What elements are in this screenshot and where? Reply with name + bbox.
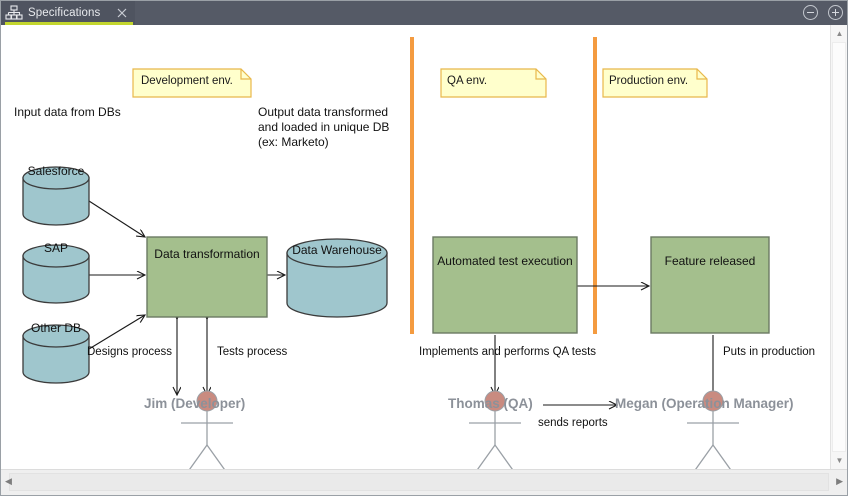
- zoom-controls: [803, 5, 843, 20]
- zoom-in-button[interactable]: [828, 5, 843, 20]
- annotation-line: (ex: Marketo): [258, 135, 389, 150]
- annotation-line: Input data from DBs: [14, 105, 121, 120]
- scroll-up-icon[interactable]: ▲: [831, 25, 848, 42]
- edge-salesforce-to-transform: [89, 201, 145, 237]
- zoom-out-button[interactable]: [803, 5, 818, 20]
- process-label-data-transformation: Data transformation: [141, 247, 273, 261]
- scroll-right-icon[interactable]: ▶: [836, 476, 843, 487]
- process-label-automated-test-execution: Automated test execution: [429, 254, 581, 268]
- vertical-scrollbar-thumb[interactable]: [832, 42, 846, 452]
- edge-label-puts-in-production: Puts in production: [723, 346, 815, 358]
- titlebar: Specifications: [1, 1, 848, 25]
- annotation-input-data: Input data from DBs: [14, 105, 121, 120]
- horizontal-scrollbar[interactable]: ◀ ▶: [1, 469, 848, 495]
- edge-label-implements-qa-tests: Implements and performs QA tests: [419, 346, 596, 358]
- annotation-line: Output data transformed: [258, 105, 389, 120]
- edge-otherdb-to-transform: [89, 315, 145, 349]
- tab-label: Specifications: [28, 7, 100, 19]
- database-label-salesforce: Salesforce: [23, 164, 89, 178]
- process-automated-test-execution[interactable]: [433, 237, 577, 333]
- scroll-left-icon[interactable]: ◀: [5, 476, 12, 487]
- annotation-line: and loaded in unique DB: [258, 120, 389, 135]
- scroll-down-icon[interactable]: ▼: [831, 452, 848, 469]
- actor-label-thomas: Thomas (QA): [448, 396, 533, 411]
- note-label-development-env: Development env.: [141, 75, 233, 87]
- actor-label-megan: Megan (Operation Manager): [615, 396, 794, 411]
- note-label-qa-env: QA env.: [447, 75, 487, 87]
- horizontal-scrollbar-thumb[interactable]: [9, 473, 829, 491]
- tab-specifications[interactable]: Specifications: [1, 1, 135, 25]
- edge-label-sends-reports: sends reports: [538, 417, 608, 429]
- note-label-production-env: Production env.: [609, 75, 688, 87]
- database-label-sap: SAP: [23, 241, 89, 255]
- database-label-other-db: Other DB: [23, 321, 89, 335]
- edge-label-designs-process: Designs process: [87, 346, 172, 358]
- hierarchy-icon: [5, 4, 23, 22]
- close-icon[interactable]: [116, 7, 128, 19]
- database-label-data-warehouse: Data Warehouse: [287, 243, 387, 257]
- diagram-canvas[interactable]: Development env. QA env. Production env.…: [1, 25, 832, 469]
- diagram-editor-window: Specifications: [0, 0, 848, 496]
- process-feature-released[interactable]: [651, 237, 769, 333]
- annotation-output-data: Output data transformed and loaded in un…: [258, 105, 389, 150]
- edge-label-tests-process: Tests process: [217, 346, 287, 358]
- vertical-scrollbar[interactable]: ▲ ▼: [830, 25, 847, 469]
- actor-label-jim: Jim (Developer): [144, 396, 245, 411]
- process-label-feature-released: Feature released: [651, 254, 769, 268]
